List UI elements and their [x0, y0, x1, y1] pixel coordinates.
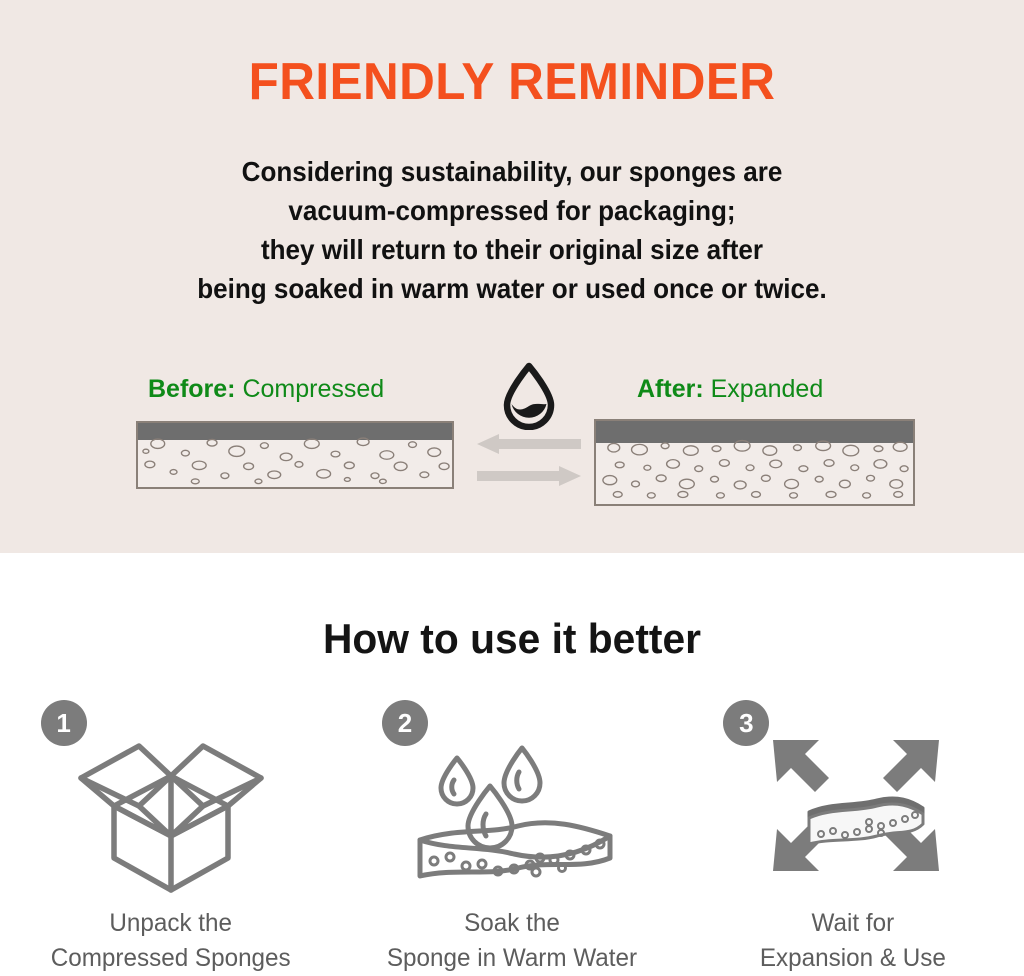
step-2-art: 2 — [382, 700, 642, 890]
expanded-sponge-image — [594, 419, 915, 506]
step-item: 2 — [341, 700, 682, 976]
step-caption-line-2: Compressed Sponges — [51, 941, 291, 976]
step-caption-line-1: Soak the — [387, 906, 637, 941]
step-caption-line-2: Sponge in Warm Water — [387, 941, 637, 976]
step-item: 3 — [683, 700, 1024, 976]
step-item: 1 — [0, 700, 341, 976]
step-1-art: 1 — [41, 700, 301, 890]
reminder-line-4: being soaked in warm water or used once … — [36, 269, 988, 308]
after-label-value: Expanded — [711, 375, 824, 403]
two-way-arrows-icon — [477, 434, 581, 486]
before-label-value: Compressed — [242, 375, 384, 403]
step-caption-line-2: Expansion & Use — [760, 941, 946, 976]
promo-infographic: FRIENDLY REMINDER Considering sustainabi… — [0, 0, 1024, 967]
before-label: Before: Compressed — [148, 375, 384, 404]
sponge-pores-before — [138, 423, 452, 487]
after-label: After: Expanded — [637, 375, 823, 404]
sponge-pores-after — [596, 421, 913, 504]
friendly-reminder-section: FRIENDLY REMINDER Considering sustainabi… — [0, 0, 1024, 553]
reminder-body-text: Considering sustainability, our sponges … — [36, 152, 988, 308]
expanding-sponge-arrows-icon — [751, 718, 961, 893]
before-label-strong: Before: — [148, 375, 236, 403]
step-3-art: 3 — [723, 700, 983, 890]
steps-list: 1 — [0, 700, 1024, 976]
step-caption-line-1: Unpack the — [51, 906, 291, 941]
step-caption-line-1: Wait for — [760, 906, 946, 941]
open-box-icon — [69, 718, 274, 893]
step-caption: Soak the Sponge in Warm Water — [387, 906, 637, 976]
reminder-line-2: vacuum-compressed for packaging; — [36, 191, 988, 230]
step-caption: Unpack the Compressed Sponges — [51, 906, 291, 976]
step-caption: Wait for Expansion & Use — [760, 906, 946, 976]
howto-title: How to use it better — [15, 615, 1008, 663]
water-drops-on-sponge-icon — [410, 718, 620, 893]
reminder-line-1: Considering sustainability, our sponges … — [36, 152, 988, 191]
page-title: FRIENDLY REMINDER — [26, 52, 999, 112]
water-drop-icon — [494, 360, 564, 430]
compressed-sponge-image — [136, 421, 454, 489]
after-label-strong: After: — [637, 375, 704, 403]
reminder-line-3: they will return to their original size … — [36, 230, 988, 269]
